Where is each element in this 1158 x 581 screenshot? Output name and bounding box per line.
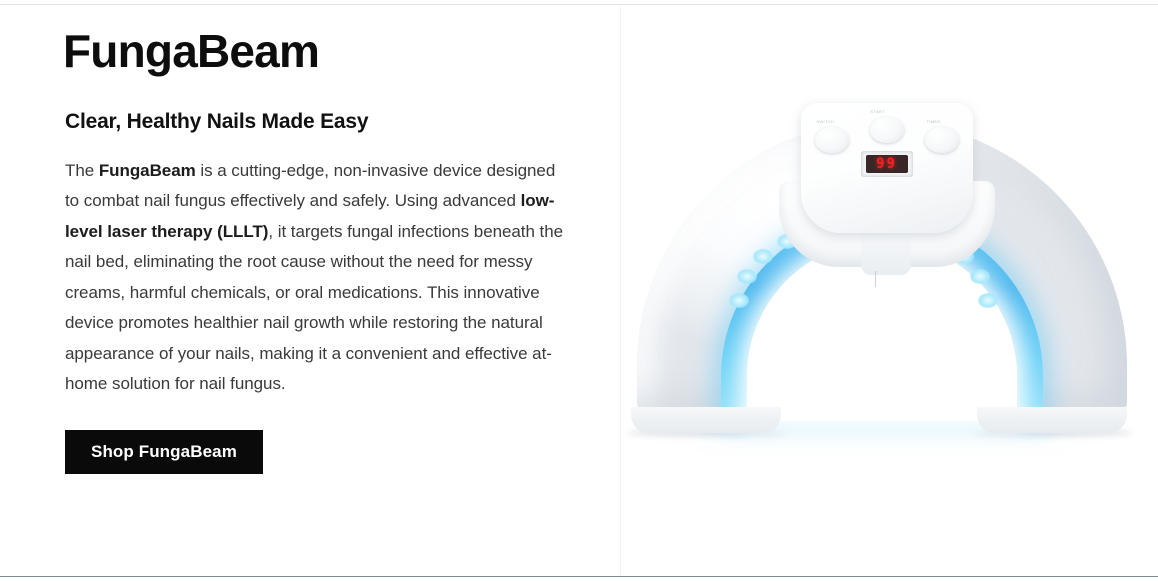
- device-control-panel: SWITCH START TIMER 99: [801, 103, 973, 233]
- led-light: [729, 293, 749, 308]
- hero-section: FungaBeam Clear, Healthy Nails Made Easy…: [0, 5, 1158, 576]
- device-timer-display: 99: [866, 155, 908, 173]
- device-center-seam: [875, 271, 886, 287]
- device-foot-right: [977, 407, 1127, 433]
- device-foot-left: [631, 407, 781, 433]
- control-button-label-start: START: [871, 109, 885, 114]
- description-bold-product-name: FungaBeam: [99, 161, 196, 180]
- device-control-pod-stem: [861, 233, 911, 275]
- control-button-label-timer: TIMER: [927, 119, 941, 124]
- hero-description: The FungaBeam is a cutting-edge, non-inv…: [65, 156, 565, 400]
- led-light: [753, 249, 773, 264]
- control-button-start[interactable]: [870, 117, 904, 143]
- led-light: [737, 269, 757, 284]
- hero-image-panel: SWITCH START TIMER 99: [620, 5, 1158, 576]
- hero-text-column: FungaBeam Clear, Healthy Nails Made Easy…: [0, 5, 620, 576]
- product-image-fungabeam-device: SWITCH START TIMER 99: [629, 103, 1149, 433]
- led-light: [978, 293, 998, 308]
- led-light: [970, 269, 990, 284]
- description-part-3: , it targets fungal infections beneath t…: [65, 222, 563, 394]
- hero-tagline: Clear, Healthy Nails Made Easy: [65, 110, 580, 134]
- description-part-1: The: [65, 161, 99, 180]
- control-button-timer[interactable]: [925, 127, 959, 153]
- device-display-bezel: 99: [861, 151, 913, 177]
- page-bottom-divider: [0, 576, 1158, 577]
- page-title: FungaBeam: [63, 27, 580, 76]
- shop-fungabeam-button[interactable]: Shop FungaBeam: [65, 430, 263, 474]
- control-button-switch[interactable]: [815, 127, 849, 153]
- control-button-label-switch: SWITCH: [817, 119, 835, 124]
